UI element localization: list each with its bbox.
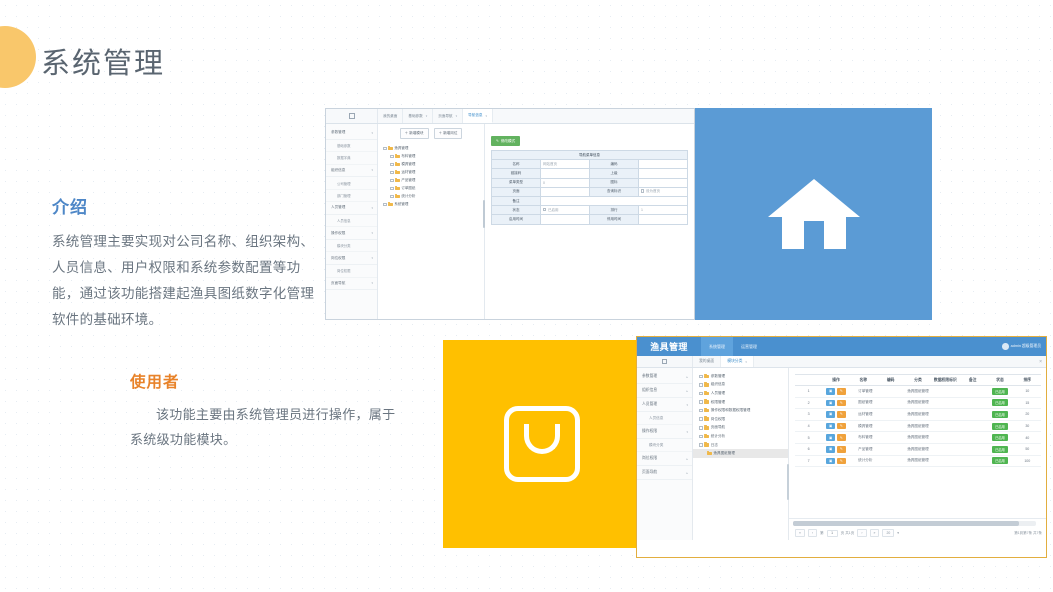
col-name: 名称 xyxy=(850,375,877,386)
sidebar-item-page-nav[interactable]: 页面导航▸ xyxy=(637,466,692,480)
sidebar-item-org-info[interactable]: 组织信息▸ xyxy=(637,384,692,398)
expand-node-icon[interactable] xyxy=(390,187,394,191)
view-icon[interactable]: ▣ xyxy=(826,388,835,395)
chevron-down-icon: ▾ xyxy=(486,114,488,118)
pagination: « ‹ 第 1 页 共1页 › » 20 ▾ 第1到第7条 共7条 xyxy=(789,528,1046,541)
chevron-down-icon[interactable]: ▾ xyxy=(897,531,899,535)
chevron-down-icon: ▾ xyxy=(745,360,747,364)
top-form-panel: ✎ 修改模式 导航菜单信息 名称 网站首页 编码 链接码 上级 xyxy=(485,124,694,320)
home-icon xyxy=(766,175,862,253)
expand-node-icon[interactable] xyxy=(390,179,394,183)
user-area[interactable]: admin 超级管理员 xyxy=(1002,337,1041,356)
table-row[interactable]: 6 ▣✎ 产品管理 渔具图纸管理 已启用 50 xyxy=(795,443,1041,455)
checkbox-icon[interactable] xyxy=(641,189,644,192)
sidebar-item-page-nav[interactable]: 页面导航▾ xyxy=(326,278,377,291)
tree-item[interactable]: 参数管理 xyxy=(693,372,788,381)
chevron-down-icon: ▾ xyxy=(371,206,373,210)
table-row[interactable]: 3 ▣✎ 运材管理 渔具图纸管理 已启用 20 xyxy=(795,409,1041,421)
tab-basic-params[interactable]: 基础参数▾ xyxy=(403,109,433,123)
top-body: 参数管理▾ 基础参数 数据字典 组织信息▾ 公司管理 部门管理 人员管理▾ 人员… xyxy=(326,124,694,320)
app-header: 渔具管理 系统管理 运营管理 admin 超级管理员 xyxy=(637,337,1046,356)
intro-body: 系统管理主要实现对公司名称、组织架构、人员信息、用户权限和系统参数配置等功能，通… xyxy=(52,229,320,333)
folder-icon xyxy=(395,195,400,199)
expand-node-icon[interactable] xyxy=(390,171,394,175)
page-size-select[interactable]: 20 xyxy=(882,529,894,537)
tree-item[interactable]: 权限管理 xyxy=(693,398,788,407)
close-icon[interactable]: × xyxy=(1039,359,1042,365)
expand-node-icon[interactable] xyxy=(699,383,703,387)
table-row[interactable]: 2 ▣✎ 图纸管理 渔具图纸管理 已启用 15 xyxy=(795,397,1041,409)
folder-icon xyxy=(388,147,393,151)
view-icon[interactable]: ▣ xyxy=(826,423,835,430)
form-value-rank[interactable]: 1 xyxy=(639,206,688,215)
table-footer: « ‹ 第 1 页 共1页 › » 20 ▾ 第1到第7条 共7条 xyxy=(789,518,1046,540)
expand-node-icon[interactable] xyxy=(699,443,703,447)
form-label-status: 状态 xyxy=(492,206,541,215)
record-count: 第1到第7条 共7条 xyxy=(1014,531,1042,536)
sidebar-item-dept-mgmt[interactable]: 部门管理 xyxy=(326,190,377,202)
expand-node-icon[interactable] xyxy=(390,155,394,159)
form-label-rank: 排行 xyxy=(590,206,639,215)
sidebar-item-post-perm[interactable]: 岗位权限▸ xyxy=(637,452,692,466)
folder-icon xyxy=(704,417,709,421)
expand-node-icon[interactable] xyxy=(699,375,703,379)
form-value-menutype[interactable]: 0 xyxy=(541,178,590,187)
sidebar-item-staff-info[interactable]: 人员信息 xyxy=(326,215,377,227)
navigation-menu-form: 导航菜单信息 名称 网站首页 编码 链接码 上级 菜单类型 0 图标 xyxy=(491,150,688,225)
expand-node-icon[interactable] xyxy=(699,409,703,413)
status-badge: 已启用 xyxy=(992,457,1009,464)
top-tabbar: 我的桌面 基础参数▾ 页面导航▾ 导航信息▾ xyxy=(326,109,694,124)
panel-bag-icon xyxy=(443,340,640,548)
form-value-parent[interactable] xyxy=(639,169,688,178)
bag-handle-shape xyxy=(524,424,560,454)
edit-icon[interactable]: ✎ xyxy=(837,411,846,418)
tree-item[interactable]: 人员管理 xyxy=(693,389,788,398)
add-post-button[interactable]: ＋ 新增岗位 xyxy=(434,128,463,139)
folder-icon xyxy=(395,179,400,183)
form-label-endtime: 停用时间 xyxy=(590,215,639,224)
sidebar-item-module-class[interactable]: 模块分类 xyxy=(326,240,377,252)
chevron-down-icon: ▾ xyxy=(456,114,458,118)
view-icon[interactable]: ▣ xyxy=(826,434,835,441)
edit-icon[interactable]: ✎ xyxy=(837,423,846,430)
bottom-body: 参数管理▸ 组织信息▸ 人员管理▾ 人员信息 操作权限▾ 模块分类 岗位权限▸ … xyxy=(637,368,1046,540)
expand-node-icon[interactable] xyxy=(390,163,394,167)
status-badge: 已启用 xyxy=(992,434,1009,441)
tree-item[interactable]: 组织信息 xyxy=(693,381,788,390)
sidebar-item-company-mgmt[interactable]: 公司管理 xyxy=(326,177,377,189)
table-row[interactable]: 5 ▣✎ 布料管理 渔具图纸管理 已启用 40 xyxy=(795,432,1041,444)
bottom-sidebar: 参数管理▸ 组织信息▸ 人员管理▾ 人员信息 操作权限▾ 模块分类 岗位权限▸ … xyxy=(637,368,693,540)
app-logo: 渔具管理 xyxy=(637,340,701,353)
form-title: 导航菜单信息 xyxy=(492,151,688,160)
expand-node-icon[interactable] xyxy=(699,435,703,439)
sidebar-item-org-info[interactable]: 组织信息▾ xyxy=(326,165,377,178)
col-index xyxy=(795,375,822,386)
chevron-down-icon: ▾ xyxy=(686,430,688,434)
expand-node-icon[interactable] xyxy=(383,147,387,151)
status-badge: 已启用 xyxy=(992,388,1009,395)
screenshot-module-classification: 渔具管理 系统管理 运营管理 admin 超级管理员 我的桌面 模块分类▾ × … xyxy=(636,336,1047,558)
tab-my-desktop[interactable]: 我的桌面 xyxy=(693,356,721,367)
sidebar-item-basic-params[interactable]: 基础参数 xyxy=(326,140,377,152)
prev-page-button[interactable]: ‹ xyxy=(808,529,817,537)
folder-icon xyxy=(704,409,709,413)
sidebar-item-staff-mgmt[interactable]: 人员管理▾ xyxy=(326,202,377,215)
view-icon[interactable]: ▣ xyxy=(826,446,835,453)
folder-icon xyxy=(395,163,400,167)
tree-item[interactable]: 订单图纸 xyxy=(378,184,484,192)
add-module-button[interactable]: ＋ 新增模块 xyxy=(400,128,429,139)
user-name: admin 超级管理员 xyxy=(1011,344,1041,349)
edit-icon[interactable]: ✎ xyxy=(837,400,846,407)
user-heading: 使用者 xyxy=(130,370,398,392)
form-value-note[interactable] xyxy=(541,197,688,206)
form-value-page[interactable] xyxy=(541,187,590,196)
edit-icon[interactable]: ✎ xyxy=(837,446,846,453)
user-block: 使用者 该功能主要由系统管理员进行操作，属于系统级功能模块。 xyxy=(130,370,398,452)
tree-item[interactable]: 渔具管理 xyxy=(378,144,484,152)
table-row[interactable]: 1 ▣✎ 订单管理 渔具图纸管理 已启用 10 xyxy=(795,386,1041,398)
form-value-icon[interactable] xyxy=(639,178,688,187)
panel-home-icon xyxy=(695,108,932,320)
page-input[interactable]: 1 xyxy=(827,530,838,537)
page-total-label: 页 共1页 xyxy=(841,531,855,536)
col-status: 状态 xyxy=(986,375,1013,386)
form-label-code: 编码 xyxy=(590,160,639,169)
last-page-button[interactable]: » xyxy=(870,529,880,537)
table-row[interactable]: 4 ▣✎ 模具管理 渔具图纸管理 已启用 30 xyxy=(795,420,1041,432)
sidebar-item-data-dict[interactable]: 数据字典 xyxy=(326,152,377,164)
sidebar-item-post-perm-sub[interactable]: 岗位权限 xyxy=(326,265,377,277)
header-tab-ops-mgmt[interactable]: 运营管理 xyxy=(733,337,765,356)
page-title: 系统管理 xyxy=(41,40,165,82)
chevron-down-icon: ▾ xyxy=(371,231,373,235)
bottom-tree-panel: 参数管理 组织信息 人员管理 权限管理 操作权限和数据权限管理 岗位权限 页面导… xyxy=(693,368,789,540)
status-badge: 已启用 xyxy=(992,446,1009,453)
folder-icon xyxy=(704,392,709,396)
tab-navigation-info[interactable]: 导航信息▾ xyxy=(463,109,493,123)
tree-item[interactable]: 布料管理 xyxy=(378,152,484,160)
col-sort: 排序 xyxy=(1014,375,1041,386)
status-badge: 已启用 xyxy=(992,399,1009,406)
table-row[interactable]: 7 ▣✎ 统计分析 渔具图纸管理 已启用 100 xyxy=(795,455,1041,467)
col-note: 备注 xyxy=(959,375,986,386)
form-value-endtime[interactable] xyxy=(639,215,688,224)
folder-icon xyxy=(707,452,712,456)
top-sidebar: 参数管理▾ 基础参数 数据字典 组织信息▾ 公司管理 部门管理 人员管理▾ 人员… xyxy=(326,124,378,320)
expand-node-icon[interactable] xyxy=(699,426,703,430)
folder-icon xyxy=(388,203,393,207)
expand-node-icon[interactable] xyxy=(699,400,703,404)
folder-icon xyxy=(704,375,709,379)
sub-tabbar: 我的桌面 模块分类▾ × xyxy=(637,356,1046,368)
form-label-queryflag: 查询标识 xyxy=(590,187,639,196)
chevron-down-icon: ▾ xyxy=(371,281,373,285)
col-category: 分类 xyxy=(904,375,931,386)
form-label-note: 备注 xyxy=(492,197,541,206)
chevron-down-icon: ▾ xyxy=(426,114,428,118)
sidebar-item-param-mgmt[interactable]: 参数管理▾ xyxy=(326,127,377,140)
chevron-down-icon: ▾ xyxy=(371,168,373,172)
col-perm-flag: 数据权限标识 xyxy=(932,375,959,386)
sidebar-item-staff-info[interactable]: 人员信息 xyxy=(637,412,692,425)
form-value-code[interactable] xyxy=(639,160,688,169)
form-label-icon: 图标 xyxy=(590,178,639,187)
folder-icon xyxy=(395,187,400,191)
collapse-icon[interactable] xyxy=(637,356,693,367)
intro-heading: 介绍 xyxy=(52,193,320,218)
pencil-icon: ✎ xyxy=(496,139,499,143)
sidebar-item-op-perm[interactable]: 操作权限▾ xyxy=(637,425,692,439)
top-tree-panel: ＋ 新增模块 ＋ 新增岗位 渔具管理 布料管理 模具管理 运材管理 产品管理 订… xyxy=(378,124,485,320)
chevron-down-icon: ▾ xyxy=(686,403,688,407)
sidebar-item-staff-mgmt[interactable]: 人员管理▾ xyxy=(637,398,692,412)
sidebar-item-module-class[interactable]: 模块分类 xyxy=(637,439,692,452)
form-value-linkcode[interactable] xyxy=(541,169,590,178)
tab-module-classification[interactable]: 模块分类▾ xyxy=(721,356,754,367)
next-page-button[interactable]: › xyxy=(857,529,866,537)
shopping-bag-icon xyxy=(504,406,580,482)
expand-node-icon[interactable] xyxy=(383,203,387,207)
sidebar-item-param-mgmt[interactable]: 参数管理▸ xyxy=(637,370,692,384)
col-code: 编码 xyxy=(877,375,904,386)
form-value-starttime[interactable] xyxy=(541,215,590,224)
tree-item[interactable]: 岗位权限 xyxy=(693,415,788,424)
top-tree-buttons: ＋ 新增模块 ＋ 新增岗位 xyxy=(378,128,484,139)
form-label-starttime: 启用时间 xyxy=(492,215,541,224)
folder-icon xyxy=(704,383,709,387)
folder-icon xyxy=(704,435,709,439)
chevron-right-icon: ▸ xyxy=(686,471,688,475)
folder-icon xyxy=(395,155,400,159)
tree-item[interactable]: 日志 xyxy=(693,441,788,450)
expand-node-icon[interactable] xyxy=(699,417,703,421)
tree-item[interactable]: 统计分析 xyxy=(378,192,484,200)
horizontal-scrollbar[interactable] xyxy=(793,521,1036,526)
tree-item[interactable]: 模具管理 xyxy=(378,160,484,168)
form-label-name: 名称 xyxy=(492,160,541,169)
view-icon[interactable]: ▣ xyxy=(826,458,835,465)
folder-icon xyxy=(395,171,400,175)
collapse-icon[interactable] xyxy=(326,109,378,123)
tree-item[interactable]: 统计分析 xyxy=(693,432,788,441)
tab-page-navigation[interactable]: 页面导航▾ xyxy=(433,109,463,123)
page-label: 第 xyxy=(820,531,824,536)
expand-node-icon[interactable] xyxy=(699,392,703,396)
avatar-icon xyxy=(1002,343,1009,350)
col-action: 操作 xyxy=(822,375,849,386)
tree-item[interactable]: 产品管理 xyxy=(378,176,484,184)
vertical-scrollbar[interactable] xyxy=(483,200,485,228)
view-icon[interactable]: ▣ xyxy=(826,400,835,407)
form-label-linkcode: 链接码 xyxy=(492,169,541,178)
tree-item[interactable]: 系统管理 xyxy=(378,200,484,208)
edit-icon[interactable]: ✎ xyxy=(837,458,846,465)
edit-icon[interactable]: ✎ xyxy=(837,388,846,395)
status-badge: 已启用 xyxy=(992,411,1009,418)
form-value-queryflag[interactable]: 设为首页 xyxy=(639,187,688,196)
module-table: 操作 名称 编码 分类 数据权限标识 备注 状态 排序 1 ▣✎ 订单管理 渔具… xyxy=(795,374,1041,467)
intro-block: 介绍 系统管理主要实现对公司名称、组织架构、人员信息、用户权限和系统参数配置等功… xyxy=(52,193,320,333)
tree-item[interactable]: 操作权限和数据权限管理 xyxy=(693,406,788,415)
edit-mode-button[interactable]: ✎ 修改模式 xyxy=(491,136,520,146)
edit-icon[interactable]: ✎ xyxy=(837,434,846,441)
form-label-parent: 上级 xyxy=(590,169,639,178)
form-value-status[interactable]: 已启用 xyxy=(541,206,590,215)
bottom-main-panel: 操作 名称 编码 分类 数据权限标识 备注 状态 排序 1 ▣✎ 订单管理 渔具… xyxy=(789,368,1046,540)
chevron-right-icon: ▸ xyxy=(686,389,688,393)
chevron-right-icon: ▸ xyxy=(686,375,688,379)
chevron-right-icon: ▸ xyxy=(686,457,688,461)
tree-item[interactable]: 运材管理 xyxy=(378,168,484,176)
tree-item[interactable]: 页面导航 xyxy=(693,424,788,433)
form-label-menutype: 菜单类型 xyxy=(492,178,541,187)
decorative-circle xyxy=(0,26,36,88)
view-icon[interactable]: ▣ xyxy=(826,411,835,418)
screenshot-navigation-menu: 我的桌面 基础参数▾ 页面导航▾ 导航信息▾ 参数管理▾ 基础参数 数据字典 组… xyxy=(325,108,695,320)
user-body: 该功能主要由系统管理员进行操作，属于系统级功能模块。 xyxy=(130,402,398,452)
sidebar-item-op-perm[interactable]: 操作权限▾ xyxy=(326,227,377,240)
folder-icon xyxy=(704,426,709,430)
sidebar-item-post-perm[interactable]: 岗位权限▾ xyxy=(326,252,377,265)
folder-icon xyxy=(704,400,709,404)
checkbox-icon[interactable] xyxy=(543,208,546,211)
form-value-name[interactable]: 网站首页 xyxy=(541,160,590,169)
form-label-page: 页面 xyxy=(492,187,541,196)
tree-item-selected[interactable]: 渔具图纸管理 xyxy=(693,449,788,458)
chevron-down-icon: ▾ xyxy=(371,131,373,135)
status-badge: 已启用 xyxy=(992,423,1009,430)
folder-icon xyxy=(704,443,709,447)
tab-my-desktop[interactable]: 我的桌面 xyxy=(378,109,403,123)
chevron-down-icon: ▾ xyxy=(371,256,373,260)
table-header-row: 操作 名称 编码 分类 数据权限标识 备注 状态 排序 xyxy=(795,375,1041,386)
header-tab-system-mgmt[interactable]: 系统管理 xyxy=(701,337,733,356)
expand-node-icon[interactable] xyxy=(390,195,394,199)
first-page-button[interactable]: « xyxy=(795,529,805,537)
